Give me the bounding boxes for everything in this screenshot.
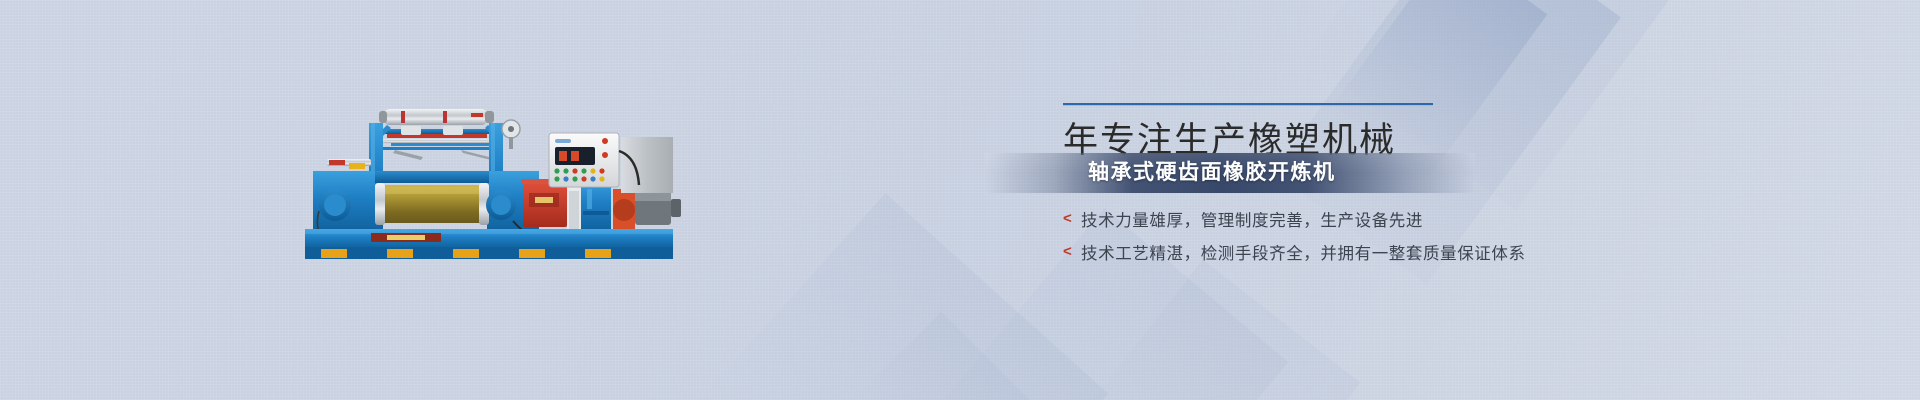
list-item: < 技术力量雄厚，管理制度完善，生产设备先进 bbox=[1063, 202, 1703, 235]
chevron-left-icon: < bbox=[1063, 244, 1081, 259]
headline-divider bbox=[1063, 103, 1433, 106]
rubber-mixing-mill-illustration bbox=[283, 93, 693, 263]
product-subtitle: 轴承式硬齿面橡胶开炼机 bbox=[985, 153, 1475, 193]
banner-text-block: 年专注生产橡塑机械 轴承式硬齿面橡胶开炼机 < 技术力量雄厚，管理制度完善，生产… bbox=[1063, 0, 1783, 400]
decorative-polygon-bottom-4 bbox=[857, 312, 1034, 400]
list-item: < 技术工艺精湛，检测手段齐全，并拥有一整套质量保证体系 bbox=[1063, 235, 1703, 268]
product-image bbox=[283, 93, 693, 263]
feature-text: 技术力量雄厚，管理制度完善，生产设备先进 bbox=[1081, 207, 1423, 231]
decorative-polygon-bottom-1 bbox=[712, 193, 1109, 400]
hero-banner: 年专注生产橡塑机械 轴承式硬齿面橡胶开炼机 < 技术力量雄厚，管理制度完善，生产… bbox=[0, 0, 1920, 400]
chevron-left-icon: < bbox=[1063, 211, 1081, 226]
feature-list: < 技术力量雄厚，管理制度完善，生产设备先进 < 技术工艺精湛，检测手段齐全，并… bbox=[1063, 202, 1703, 268]
feature-text: 技术工艺精湛，检测手段齐全，并拥有一整套质量保证体系 bbox=[1081, 240, 1526, 264]
